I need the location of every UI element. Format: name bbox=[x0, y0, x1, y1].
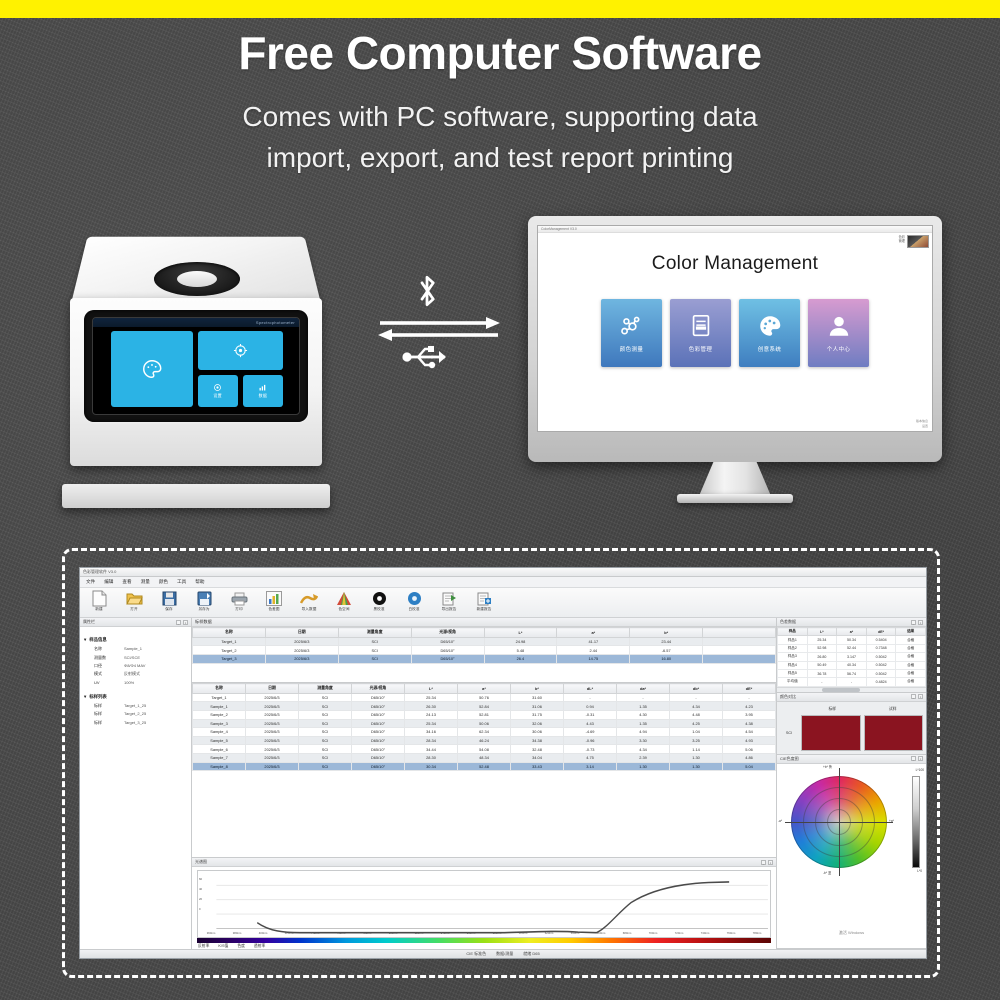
left-panel-header: 属性栏 _ × bbox=[80, 618, 191, 627]
cell: Target_2 bbox=[193, 646, 266, 655]
cell: D65/10° bbox=[352, 702, 405, 711]
col-header[interactable]: db* bbox=[670, 684, 723, 694]
left-panel-close-button[interactable]: × bbox=[183, 620, 188, 625]
left-panel-buttons[interactable]: _ × bbox=[176, 620, 188, 625]
cell: SCI bbox=[299, 753, 352, 762]
cell: Sample_7 bbox=[193, 753, 246, 762]
tree-row-value: Φ8/Φ4 MAV bbox=[124, 663, 145, 669]
swatch-standard[interactable] bbox=[801, 715, 861, 751]
cell: Sample_5 bbox=[193, 736, 246, 745]
cell: 24.98 bbox=[484, 637, 557, 646]
cell: Target_1 bbox=[193, 693, 246, 702]
cell: 50.76 bbox=[458, 693, 511, 702]
toolbar-white-calib[interactable]: 白校准 bbox=[400, 590, 428, 612]
cell: 31.60 bbox=[511, 693, 564, 702]
menu-item-help[interactable]: 帮助 bbox=[195, 579, 204, 585]
spectra-xtick: 420nm bbox=[276, 931, 302, 937]
spectra-xtick: 520nm bbox=[406, 931, 432, 937]
cell: 52.98 bbox=[807, 644, 837, 652]
cell: 41.17 bbox=[557, 637, 630, 646]
toolbar-new-file[interactable]: 新建 bbox=[85, 590, 113, 612]
cell: 26.80 bbox=[807, 653, 837, 661]
cell: 3.30 bbox=[617, 736, 670, 745]
menu-item-file[interactable]: 文件 bbox=[86, 579, 95, 585]
cell: Sample_2 bbox=[193, 710, 246, 719]
cell: D65/10° bbox=[352, 736, 405, 745]
color-difference-body: 样品125.3450.340.5404合格样品252.9852.440.7348… bbox=[778, 636, 926, 686]
wheel-axis-vertical bbox=[839, 768, 840, 876]
spectra-ytick-3: 0 bbox=[199, 907, 201, 911]
app-tile-label-0: 颜色测量 bbox=[620, 345, 644, 353]
cell: D65/10° bbox=[352, 753, 405, 762]
swatch-min-button[interactable]: _ bbox=[911, 694, 916, 699]
tree-row-value: Target_2_25 bbox=[124, 711, 146, 717]
app-tile-creative-system[interactable]: 创意系统 bbox=[739, 299, 800, 367]
col-header[interactable]: dE* bbox=[866, 628, 896, 636]
col-header[interactable]: b* bbox=[630, 628, 703, 638]
cell: 4.34 bbox=[617, 745, 670, 754]
device-base bbox=[62, 484, 330, 508]
tree-row[interactable]: 标样 Target_1_25 bbox=[84, 702, 187, 710]
cell-spacer bbox=[703, 654, 776, 663]
cell: D65/10° bbox=[352, 728, 405, 737]
cell: 合格 bbox=[896, 678, 926, 686]
wheel-label-top: +b* 黄 bbox=[823, 764, 832, 769]
spectra-xtick: 680nm bbox=[614, 931, 640, 937]
table-row[interactable]: 样品252.9852.440.7348合格 bbox=[778, 644, 926, 652]
cell: 26.4 bbox=[484, 654, 557, 663]
col-header[interactable]: L* bbox=[405, 684, 458, 694]
software-titlebar: 色彩管理软件 V3.0 bbox=[80, 568, 926, 577]
col-header[interactable]: 光源/视角 bbox=[352, 684, 405, 694]
wheel-panel-buttons[interactable]: _ × bbox=[911, 756, 923, 761]
chromaticity-diagram: +b* 黄 -b* 蓝 -a* +a* L*100 L*0 激活 Windows bbox=[777, 764, 926, 948]
toolbar-white-calib-label: 白校准 bbox=[400, 607, 428, 612]
cell: 2025/6/3 bbox=[246, 719, 299, 728]
target-grid-title: 标样数据 bbox=[192, 618, 776, 627]
cell: 2.39 bbox=[617, 753, 670, 762]
toolbar-black-calib[interactable]: 黑校准 bbox=[365, 590, 393, 612]
software-callout-frame: 色彩管理软件 V3.0 文件 编辑 查看 测量 颜色 工具 帮助 新建 打开 bbox=[62, 548, 940, 978]
table-row[interactable]: 样品125.3450.340.5404合格 bbox=[778, 636, 926, 644]
settings-gear-icon bbox=[213, 383, 222, 392]
menu-item-view[interactable]: 查看 bbox=[122, 579, 131, 585]
toolbar-color-space[interactable]: 色空间 bbox=[330, 590, 358, 612]
table-row[interactable]: 样品326.803.1470.5042合格 bbox=[778, 653, 926, 661]
spectra-xtick: 580nm bbox=[484, 931, 510, 937]
cell: 25.34 bbox=[807, 636, 837, 644]
cell: 合格 bbox=[896, 644, 926, 652]
cell: 样品5 bbox=[778, 669, 808, 677]
spectra-xtick: 500nm bbox=[380, 931, 406, 937]
cell: 样品2 bbox=[778, 644, 808, 652]
tree-row: 口径 Φ8/Φ4 MAV bbox=[84, 662, 187, 670]
device-tile-grid: 设置 数据 bbox=[111, 331, 283, 407]
tree-group-sample-label: 样品信息 bbox=[89, 637, 107, 643]
cell: 3.25 bbox=[670, 736, 723, 745]
toolbar-save-as-label: 另存为 bbox=[190, 607, 218, 612]
spectra-ytick-2: 20 bbox=[199, 897, 202, 901]
cell: 样品3 bbox=[778, 653, 808, 661]
cell: - bbox=[807, 678, 837, 686]
app-tile-color-manage[interactable]: 色彩管理 bbox=[670, 299, 731, 367]
brand-logo-icon bbox=[907, 235, 929, 248]
cell: 0.5042 bbox=[866, 661, 896, 669]
cell: 2.44 bbox=[557, 646, 630, 655]
cell: D65/10° bbox=[411, 637, 484, 646]
cell: 24.13 bbox=[405, 710, 458, 719]
heading-block: Free Computer Software Comes with PC sof… bbox=[0, 20, 1000, 178]
toolbar-open-label: 打开 bbox=[120, 607, 148, 612]
spectral-reflectance-plot: 60 40 20 0 360nm380nm400nm420nm440nm460n… bbox=[197, 870, 771, 938]
cell: 4.94 bbox=[617, 728, 670, 737]
software-right-panel: 色差数据 _ × 样品 L* a* dE* 结果 bbox=[776, 618, 926, 949]
cell: 1.35 bbox=[617, 702, 670, 711]
bar-chart-icon bbox=[258, 383, 267, 392]
spectra-xtick: 620nm bbox=[536, 931, 562, 937]
table-header-row: 样品 L* a* dE* 结果 bbox=[778, 628, 926, 636]
measurement-aperture bbox=[177, 271, 217, 287]
table-row[interactable]: 样品450.4940.340.5042合格 bbox=[778, 661, 926, 669]
cell: - bbox=[670, 693, 723, 702]
cell: SCI bbox=[338, 654, 411, 663]
tree-row-value: Target_1_25 bbox=[124, 703, 146, 709]
app-tile-color-measure[interactable]: 颜色测量 bbox=[601, 299, 662, 367]
cell: 31.06 bbox=[511, 702, 564, 711]
col-header[interactable]: L* bbox=[807, 628, 837, 636]
left-panel-title: 属性栏 bbox=[83, 619, 95, 625]
cell: 平均值 bbox=[778, 678, 808, 686]
menu-item-color[interactable]: 颜色 bbox=[159, 579, 168, 585]
lstrip-top-label: L*100 bbox=[916, 768, 924, 772]
col-header[interactable]: 测量角度 bbox=[338, 628, 411, 638]
cell: 32.48 bbox=[511, 745, 564, 754]
sample-data-table: 名称 日期 测量角度 光源/视角 L* a* b* dL* da* db* dE… bbox=[192, 683, 776, 771]
sample-table-body: Target_12025/6/3SCID65/10°25.3450.7631.6… bbox=[193, 693, 776, 770]
cell: 2025/6/3 bbox=[246, 753, 299, 762]
cell: 2025/6/3 bbox=[265, 654, 338, 663]
col-header[interactable]: 样品 bbox=[778, 628, 808, 636]
save-icon bbox=[155, 590, 183, 607]
cell: 4.23 bbox=[723, 702, 776, 711]
cell: - bbox=[837, 678, 867, 686]
spectra-xtick: 360nm bbox=[198, 931, 224, 937]
toolbar-export-report[interactable]: 导出报告 bbox=[435, 590, 463, 612]
chromaticity-title: CIE色度图 bbox=[780, 756, 799, 762]
cell: 样品1 bbox=[778, 636, 808, 644]
cell: 30.34 bbox=[405, 762, 458, 771]
cell: 1.14 bbox=[670, 745, 723, 754]
spectra-ytick-1: 40 bbox=[199, 887, 202, 891]
cell: 2025/6/3 bbox=[246, 728, 299, 737]
cell: 3.95 bbox=[723, 710, 776, 719]
cell: 4.86 bbox=[723, 753, 776, 762]
cell: 合格 bbox=[896, 653, 926, 661]
wheel-label-right: +a* bbox=[889, 819, 894, 823]
cell: 0.5404 bbox=[866, 636, 896, 644]
col-header[interactable]: dE* bbox=[723, 684, 776, 694]
report-new-icon bbox=[470, 590, 498, 607]
cell: 34.44 bbox=[405, 745, 458, 754]
cell: 28.34 bbox=[405, 736, 458, 745]
spectra-xtick: 560nm bbox=[458, 931, 484, 937]
spectra-xtick: 440nm bbox=[302, 931, 328, 937]
device-tile-data[interactable]: 数据 bbox=[243, 375, 283, 407]
palette-icon bbox=[757, 313, 783, 339]
cell: 56.74 bbox=[837, 669, 867, 677]
table-row[interactable]: Sample_22025/6/3SCID65/10°24.1352.8131.7… bbox=[193, 710, 776, 719]
menu-item-tools[interactable]: 工具 bbox=[177, 579, 186, 585]
spectra-xtick: 760nm bbox=[718, 931, 744, 937]
tree-row-key: 口径 bbox=[94, 663, 120, 669]
app-tile-personal-center[interactable]: 个人中心 bbox=[808, 299, 869, 367]
left-panel-min-button[interactable]: _ bbox=[176, 620, 181, 625]
table-row[interactable]: Target_1 2025/6/3 SCI D65/10° 24.98 41.1… bbox=[193, 637, 776, 646]
cell: SCI bbox=[299, 719, 352, 728]
cell: 33.43 bbox=[511, 762, 564, 771]
col-header-spacer bbox=[703, 628, 776, 638]
table-row[interactable]: Sample_12025/6/3SCID65/10°26.3052.8431.0… bbox=[193, 702, 776, 711]
tree-row[interactable]: 标样 Target_3_25 bbox=[84, 719, 187, 727]
table-row-selected[interactable]: Target_3 2025/6/3 SCI D65/10° 26.4 14.75… bbox=[193, 654, 776, 663]
spectra-xtick: 720nm bbox=[666, 931, 692, 937]
chevron-down-icon: ▾ bbox=[84, 694, 86, 700]
toolbar-chart[interactable]: 色差图 bbox=[260, 590, 288, 612]
new-file-icon bbox=[85, 590, 113, 607]
tree-row: 模式 反射模式 bbox=[84, 670, 187, 678]
status-item-0: CIE 标准色 bbox=[466, 951, 486, 957]
software-window: 色彩管理软件 V3.0 文件 编辑 查看 测量 颜色 工具 帮助 新建 打开 bbox=[79, 567, 927, 959]
tree-row: 名称 Sample_1 bbox=[84, 645, 187, 653]
spectra-close-button[interactable]: × bbox=[768, 860, 773, 865]
spectra-xtick: 780nm bbox=[744, 931, 770, 937]
subtitle-line-1: Comes with PC software, supporting data bbox=[0, 97, 1000, 138]
device-screen: Spectrophotometer bbox=[92, 317, 300, 415]
cell: 样品4 bbox=[778, 661, 808, 669]
spectra-min-button[interactable]: _ bbox=[761, 860, 766, 865]
cell: 25.34 bbox=[405, 719, 458, 728]
spectra-xtick: 600nm bbox=[510, 931, 536, 937]
color-swatch-panel: 颜色对比 _ × 标样 试样 SCI bbox=[777, 693, 926, 755]
cell: D65/10° bbox=[352, 762, 405, 771]
col-header[interactable]: 名称 bbox=[193, 628, 266, 638]
col-header[interactable]: L* bbox=[484, 628, 557, 638]
toolbar-print[interactable]: 打印 bbox=[225, 590, 253, 612]
app-tile-label-3: 个人中心 bbox=[827, 345, 851, 353]
import-icon bbox=[295, 590, 323, 607]
swatch-panel-buttons[interactable]: _ × bbox=[911, 694, 923, 699]
lstrip-bottom-label: L*0 bbox=[917, 869, 922, 873]
cell: 2025/6/3 bbox=[246, 693, 299, 702]
spectra-header: 光谱图 _ × bbox=[192, 858, 776, 867]
software-center-panel: 标样数据 名称 日期 测量角度 光源/视角 L* a* b* bbox=[192, 618, 776, 949]
toolbar-import[interactable]: 导入数据 bbox=[295, 590, 323, 612]
spectra-xtick: 480nm bbox=[354, 931, 380, 937]
toolbar-export-report-label: 导出报告 bbox=[435, 607, 463, 612]
toolbar-new-file-label: 新建 bbox=[85, 607, 113, 612]
table-row[interactable]: Target_12025/6/3SCID65/10°25.3450.7631.6… bbox=[193, 693, 776, 702]
monitor-footer-links[interactable]: 版本信息 设置 bbox=[916, 419, 928, 428]
cd-min-button[interactable]: _ bbox=[911, 620, 916, 625]
col-header[interactable]: 结果 bbox=[896, 628, 926, 636]
cd-panel-buttons[interactable]: _ × bbox=[911, 620, 923, 625]
tree-row[interactable]: 标样 Target_2_25 bbox=[84, 710, 187, 718]
cell: 50.06 bbox=[458, 719, 511, 728]
cell: SCI bbox=[299, 710, 352, 719]
cell: Sample_1 bbox=[193, 702, 246, 711]
tree-group-targets[interactable]: ▾ 标样列表 bbox=[84, 694, 187, 700]
save-as-icon bbox=[190, 590, 218, 607]
cell: 2025/6/3 bbox=[246, 745, 299, 754]
cell: 4.54 bbox=[723, 728, 776, 737]
col-header[interactable]: dL* bbox=[564, 684, 617, 694]
desktop-monitor: ColorManagement V3.0 色彩 管理 Color Managem… bbox=[528, 216, 942, 506]
cell: 合格 bbox=[896, 661, 926, 669]
col-header[interactable]: 测量角度 bbox=[299, 684, 352, 694]
tree-row-value: Target_3_25 bbox=[124, 720, 146, 726]
cell: 46.24 bbox=[458, 736, 511, 745]
cd-horizontal-scrollbar[interactable] bbox=[777, 687, 926, 692]
cell: D65/10° bbox=[411, 646, 484, 655]
color-difference-panel: 色差数据 _ × 样品 L* a* dE* 结果 bbox=[777, 618, 926, 693]
spectral-curve-svg bbox=[198, 871, 770, 937]
white-sample-icon bbox=[400, 590, 428, 607]
lightness-strip bbox=[912, 776, 920, 868]
chromaticity-panel: CIE色度图 _ × +b* 黄 -b* 蓝 bbox=[777, 755, 926, 949]
cell: 4.75 bbox=[564, 753, 617, 762]
cell: SCI bbox=[299, 736, 352, 745]
toolbar-new-report[interactable]: 新建报告 bbox=[470, 590, 498, 612]
open-folder-icon bbox=[120, 590, 148, 607]
monitor-tile-grid: 颜色测量 色彩管理 bbox=[538, 299, 932, 367]
table-row[interactable]: Sample_62025/6/3SCID65/10°34.4454.0832.4… bbox=[193, 745, 776, 754]
monitor-footer-line1: 版本信息 bbox=[916, 419, 928, 424]
toolbar-open[interactable]: 打开 bbox=[120, 590, 148, 612]
col-header[interactable]: 名称 bbox=[193, 684, 246, 694]
wheel-label-left: -a* bbox=[778, 819, 782, 823]
col-header[interactable]: da* bbox=[617, 684, 670, 694]
cell: 25.34 bbox=[405, 693, 458, 702]
tree-group-sample[interactable]: ▾ 样品信息 bbox=[84, 637, 187, 643]
page-subtitle: Comes with PC software, supporting data … bbox=[0, 97, 1000, 178]
toolbar-save-as[interactable]: 另存为 bbox=[190, 590, 218, 612]
cell: 1.30 bbox=[670, 753, 723, 762]
cell: SCI bbox=[299, 693, 352, 702]
cell: 50.49 bbox=[807, 661, 837, 669]
cell: 32.06 bbox=[511, 719, 564, 728]
chart-icon bbox=[260, 590, 288, 607]
table-header-row: 名称 日期 测量角度 光源/视角 L* a* b* bbox=[193, 628, 776, 638]
software-left-panel: 属性栏 _ × ▾ 样品信息 名称 Sample_1 bbox=[80, 618, 192, 949]
target-grid-wrapper: 名称 日期 测量角度 光源/视角 L* a* b* Target_1 bbox=[192, 627, 776, 683]
sample-grid-wrapper: 名称 日期 测量角度 光源/视角 L* a* b* dL* da* db* dE… bbox=[192, 683, 776, 857]
palette-icon bbox=[141, 358, 163, 380]
monitor-frame: ColorManagement V3.0 色彩 管理 Color Managem… bbox=[528, 216, 942, 462]
cell: D65/10° bbox=[352, 745, 405, 754]
status-item-2: 就绪 D65 bbox=[523, 951, 539, 957]
col-header[interactable]: 日期 bbox=[265, 628, 338, 638]
swatch-row-label: SCI bbox=[780, 731, 798, 735]
col-header[interactable]: 光源/视角 bbox=[411, 628, 484, 638]
col-header[interactable]: a* bbox=[458, 684, 511, 694]
target-data-table: 名称 日期 测量角度 光源/视角 L* a* b* Target_1 bbox=[192, 627, 776, 664]
col-header[interactable]: a* bbox=[557, 628, 630, 638]
spectra-panel-buttons[interactable]: _ × bbox=[761, 860, 773, 865]
cell-spacer bbox=[703, 646, 776, 655]
cell: 52.81 bbox=[458, 710, 511, 719]
toolbar-save[interactable]: 保存 bbox=[155, 590, 183, 612]
table-row[interactable]: Sample_52025/6/3SCID65/10°28.3446.2434.3… bbox=[193, 736, 776, 745]
scrollbar-thumb[interactable] bbox=[822, 688, 861, 692]
spectra-xtick: 740nm bbox=[692, 931, 718, 937]
menu-item-measure[interactable]: 测量 bbox=[141, 579, 150, 585]
swatch-close-button[interactable]: × bbox=[918, 694, 923, 699]
col-header[interactable]: 日期 bbox=[246, 684, 299, 694]
table-row[interactable]: Sample_32025/6/3SCID65/10°25.3450.0632.0… bbox=[193, 719, 776, 728]
menu-item-edit[interactable]: 编辑 bbox=[104, 579, 113, 585]
table-row[interactable]: 样品536.7856.740.5042合格 bbox=[778, 669, 926, 677]
cell: 1.35 bbox=[617, 719, 670, 728]
toolbar-black-calib-label: 黑校准 bbox=[365, 607, 393, 612]
toolbar-chart-label: 色差图 bbox=[260, 607, 288, 612]
wheel-min-button[interactable]: _ bbox=[911, 756, 916, 761]
tree-row-key: 测量数 bbox=[94, 655, 120, 661]
cell: SCI bbox=[299, 728, 352, 737]
cell: 54.08 bbox=[458, 745, 511, 754]
table-row[interactable]: Sample_72025/6/3SCID65/10°28.3048.3434.0… bbox=[193, 753, 776, 762]
cell: 4.25 bbox=[670, 719, 723, 728]
device-tile-settings[interactable]: 设置 bbox=[198, 375, 238, 407]
cell: 2025/6/3 bbox=[246, 762, 299, 771]
tree-row: 测量数 SCI/SCE bbox=[84, 653, 187, 661]
cd-close-button[interactable]: × bbox=[918, 620, 923, 625]
cell: 14.75 bbox=[557, 654, 630, 663]
swatch-sample[interactable] bbox=[864, 715, 924, 751]
cell: D65/10° bbox=[411, 654, 484, 663]
page-title: Free Computer Software bbox=[0, 20, 1000, 81]
monitor-screen: ColorManagement V3.0 色彩 管理 Color Managem… bbox=[537, 225, 933, 432]
cell: -0.73 bbox=[564, 745, 617, 754]
cell: 5.48 bbox=[484, 646, 557, 655]
table-row-selected[interactable]: Sample_82025/6/3SCID65/10°30.3452.4833.4… bbox=[193, 762, 776, 771]
colorimeter-device: Spectrophotometer bbox=[62, 218, 332, 498]
cell: 5.06 bbox=[723, 745, 776, 754]
monitor-logo-label-line2: 管理 bbox=[899, 239, 905, 243]
cell: 0.7348 bbox=[866, 644, 896, 652]
col-header[interactable]: b* bbox=[511, 684, 564, 694]
tree-row-key: 名称 bbox=[94, 646, 120, 652]
swatch-right-label: 试样 bbox=[889, 707, 897, 712]
wheel-close-button[interactable]: × bbox=[918, 756, 923, 761]
top-accent-bar bbox=[0, 0, 1000, 18]
cell: 合格 bbox=[896, 669, 926, 677]
table-row[interactable]: Target_2 2025/6/3 SCI D65/10° 5.48 2.44 … bbox=[193, 646, 776, 655]
cell: -6.57 bbox=[630, 646, 703, 655]
device-tile-palette[interactable] bbox=[111, 331, 193, 407]
device-tile-settings-label: 设置 bbox=[213, 393, 222, 399]
cell: 2025/6/3 bbox=[265, 637, 338, 646]
monitor-app-titlebar: ColorManagement V3.0 bbox=[538, 226, 932, 233]
software-toolbar: 新建 打开 保存 另存为 bbox=[80, 588, 926, 618]
table-row[interactable]: Sample_42025/6/3SCID65/10°34.1662.3430.0… bbox=[193, 728, 776, 737]
cell: 28.30 bbox=[405, 753, 458, 762]
monitor-logo-label: 色彩 管理 bbox=[899, 235, 905, 243]
color-space-icon bbox=[330, 590, 358, 607]
table-row[interactable]: 平均值--0.4824合格 bbox=[778, 678, 926, 686]
device-tile-measure[interactable] bbox=[198, 331, 283, 370]
toolbar-new-report-label: 新建报告 bbox=[470, 607, 498, 612]
col-header[interactable]: a* bbox=[837, 628, 867, 636]
